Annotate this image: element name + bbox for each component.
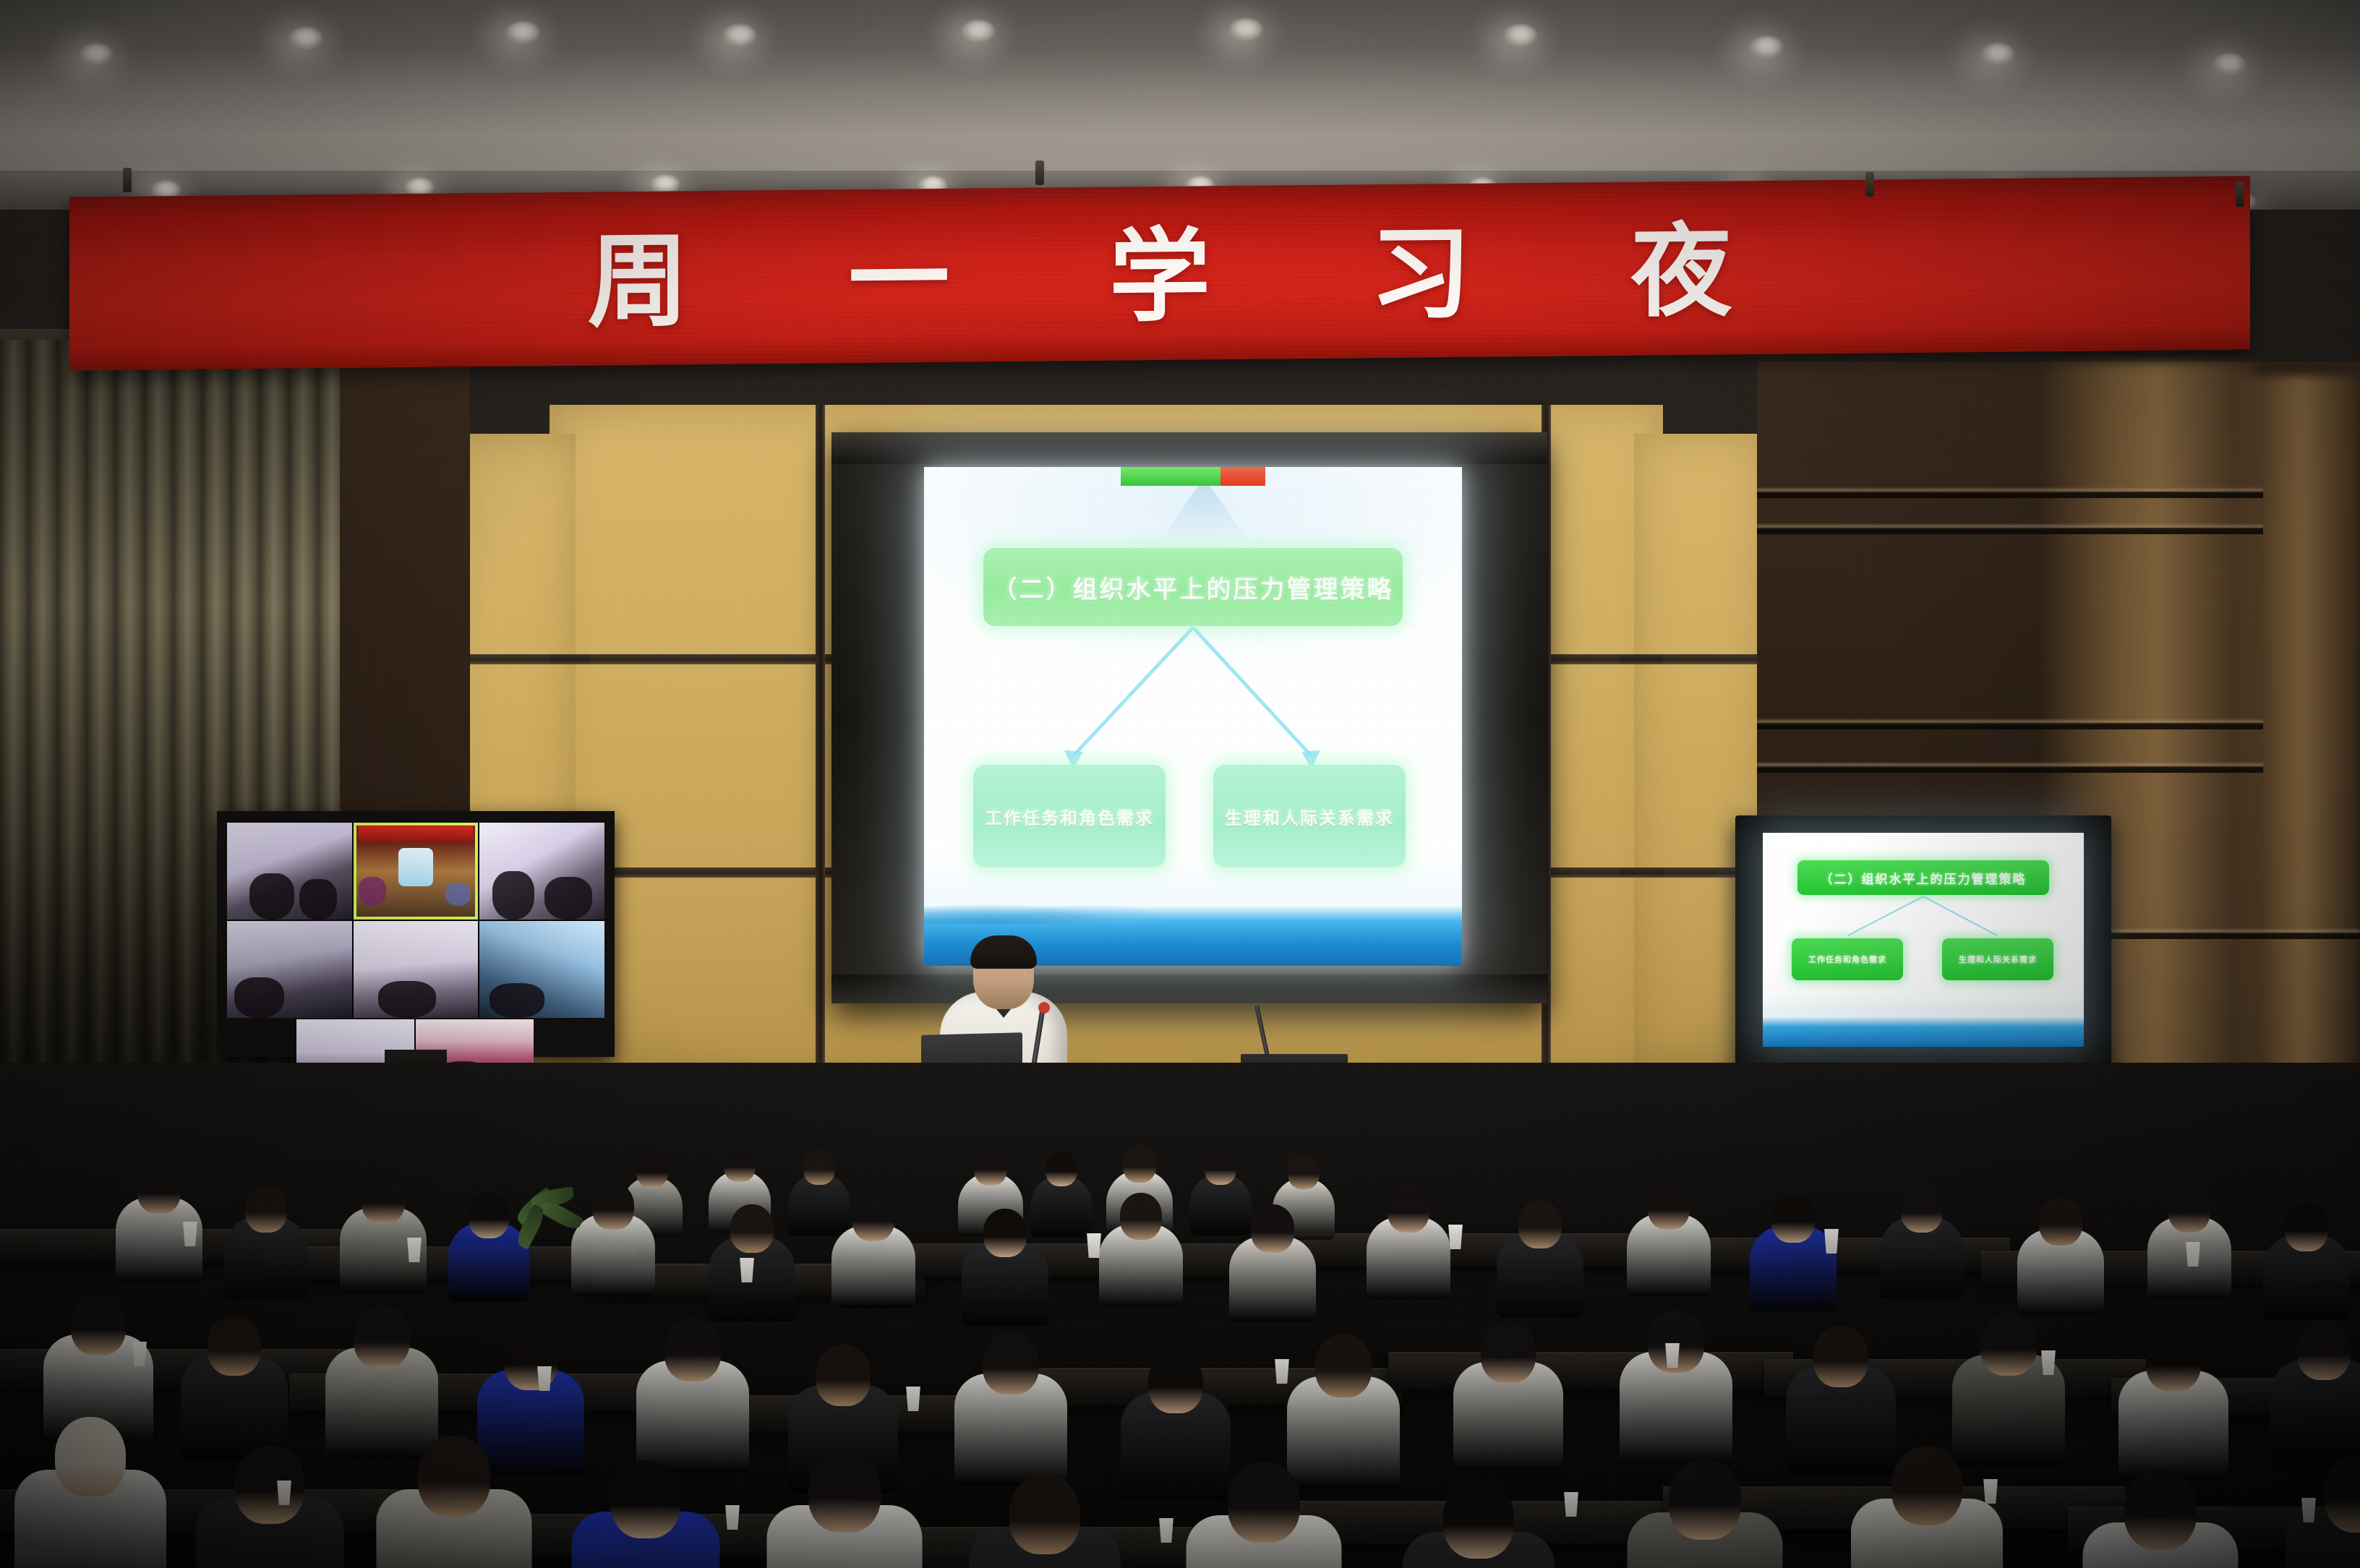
person-head [208, 1316, 261, 1376]
audience-person [14, 1417, 166, 1568]
banner-hook-2 [1035, 160, 1044, 185]
audience-person [2285, 1455, 2360, 1568]
person-head [1148, 1352, 1203, 1413]
person-head [592, 1183, 634, 1230]
person-head [803, 1149, 835, 1185]
audience-person [1099, 1193, 1183, 1317]
event-banner: 周 一 学 习 夜 [69, 176, 2250, 371]
person-head [418, 1436, 490, 1517]
panel-vgroove-left [816, 405, 825, 1077]
person-head [2285, 1203, 2328, 1251]
conference-hall-photo: 周 一 学 习 夜 （二）组织水平上的压力管理 [0, 0, 2360, 1568]
person-head [611, 1460, 680, 1538]
person-head [808, 1452, 881, 1533]
screen-frame-bottom [831, 974, 1547, 1003]
tv-screen: （二）组织水平上的压力管理策略 工作任务和角色需求 生理和人际关系需求 [1763, 833, 2084, 1047]
potted-plant [506, 1186, 593, 1294]
ceiling-light-icon [289, 27, 322, 49]
panel-groove-5 [1620, 654, 1779, 664]
audience-desk [882, 1243, 1258, 1277]
person-head [2168, 1186, 2210, 1233]
banner-hook-1 [123, 168, 132, 192]
secondary-display[interactable]: （二）组织水平上的压力管理策略 工作任务和角色需求 生理和人际关系需求 [1735, 815, 2111, 1076]
person-head [2146, 1330, 2201, 1392]
cctv-grid [227, 823, 604, 1018]
ceiling-light-icon [1504, 25, 1537, 46]
person-head [1288, 1154, 1320, 1189]
audience-person [2017, 1197, 2104, 1326]
cctv-inner-screen [398, 848, 433, 887]
banner-hook-4 [2236, 182, 2244, 207]
cctv-tile-camera-4[interactable] [227, 921, 352, 1018]
person-head [730, 1204, 774, 1253]
person-head [1980, 1313, 2037, 1376]
audience-person [1229, 1204, 1316, 1333]
person-head [1120, 1193, 1162, 1240]
audience-person [1750, 1194, 1837, 1323]
person-head [71, 1294, 126, 1355]
audience-person [831, 1194, 915, 1319]
wood-highlight-2 [1757, 525, 2263, 528]
ceiling-light-icon [80, 43, 113, 65]
audience-person [1620, 1310, 1732, 1478]
person-head [354, 1306, 410, 1368]
cctv-monitor-wall[interactable] [217, 811, 615, 1057]
audience-person [766, 1452, 922, 1568]
person-head [1891, 1446, 1962, 1525]
person-head [1518, 1200, 1562, 1248]
person-head [1205, 1149, 1236, 1185]
slide-title-box: （二）组织水平上的压力管理策略 [983, 548, 1403, 626]
wood-groove-4 [1757, 766, 2263, 773]
person-head [1251, 1204, 1294, 1253]
audience-person [2082, 1469, 2238, 1568]
wood-highlight-4 [1757, 763, 2263, 766]
tv-node-left: 工作任务和角色需求 [1792, 938, 1903, 980]
person-head [1648, 1183, 1690, 1230]
audience-person [1453, 1321, 1563, 1485]
ceiling-light-icon [1750, 36, 1783, 58]
tv-node-right: 生理和人际关系需求 [1942, 938, 2053, 980]
person-head [1046, 1151, 1077, 1186]
slide-node-left: 工作任务和角色需求 [973, 765, 1166, 867]
person-head [983, 1332, 1039, 1395]
audience-person [1851, 1446, 2003, 1568]
ceiling-light-icon [1229, 19, 1262, 40]
audience-person [962, 1209, 1048, 1337]
wood-groove-2 [1757, 528, 2263, 534]
person-head [1388, 1186, 1429, 1233]
person-head [1123, 1145, 1156, 1183]
cctv-tile-camera-6[interactable] [479, 921, 604, 1018]
person-head [2297, 1320, 2351, 1380]
wood-highlight-1 [1757, 489, 2263, 492]
audience-person [1627, 1183, 1711, 1307]
screen-surface: （二）组织水平上的压力管理策略 工作任务和角色需求 生理和人际关系需求 [924, 467, 1462, 966]
person-head [1481, 1321, 1536, 1383]
wood-wall-highlight-edge [2234, 376, 2360, 1106]
cctv-tile-camera-2[interactable] [354, 823, 479, 920]
cctv-inner-banner [359, 826, 474, 841]
cctv-tile-camera-3[interactable] [479, 823, 604, 920]
ceiling-light-icon [723, 25, 756, 46]
audience-person [1186, 1462, 1341, 1568]
audience-person [1627, 1459, 1782, 1568]
audience-desk [1388, 1352, 1793, 1389]
cctv-tile-camera-5[interactable] [354, 921, 479, 1018]
person-head [816, 1345, 871, 1406]
person-head [1813, 1326, 1868, 1387]
audience-person [571, 1460, 719, 1568]
cctv-tile-camera-1[interactable] [227, 823, 352, 920]
person-head [245, 1186, 287, 1233]
audience-person [1880, 1186, 1964, 1310]
audience-person [195, 1446, 343, 1568]
ceiling-light-icon [2212, 53, 2246, 75]
person-head [2124, 1469, 2197, 1550]
audience-person [1497, 1200, 1583, 1329]
slide-connector-lines [924, 467, 1462, 966]
person-head [1315, 1334, 1372, 1397]
screen-frame-top [831, 432, 1547, 464]
slide-node-right: 生理和人际关系需求 [1213, 765, 1406, 867]
person-head [852, 1194, 894, 1241]
person-head [983, 1209, 1027, 1257]
ceiling-light-icon [962, 20, 995, 42]
person-head [1443, 1479, 1514, 1559]
microphone-head-1 [1038, 1002, 1050, 1014]
person-head [55, 1417, 126, 1496]
person-head [1901, 1186, 1943, 1233]
person-head [2039, 1197, 2082, 1246]
person-head [1669, 1459, 1741, 1540]
audience-person [376, 1436, 531, 1568]
ceiling-light-icon [506, 22, 539, 43]
person-head [664, 1319, 721, 1381]
audience-person [1403, 1479, 1555, 1568]
person-head [724, 1147, 756, 1182]
audience-person [1367, 1186, 1450, 1310]
audience-person [224, 1186, 308, 1310]
banner-title: 周 一 学 习 夜 [69, 176, 2250, 371]
person-head [974, 1148, 1007, 1186]
ceiling-light-icon [1981, 43, 2014, 65]
audience-person [2263, 1203, 2350, 1332]
person-head [1228, 1462, 1300, 1543]
wood-groove-3 [1757, 723, 2263, 729]
person-head [137, 1165, 181, 1214]
person-head [1009, 1475, 1080, 1554]
banner-hook-3 [1865, 172, 1874, 197]
wood-highlight-3 [1757, 720, 2263, 723]
tv-title-box: （二）组织水平上的压力管理策略 [1797, 860, 2049, 895]
person-head [235, 1446, 304, 1524]
wood-groove-1 [1757, 492, 2263, 498]
person-head [1771, 1194, 1815, 1243]
audience-person [969, 1475, 1121, 1568]
person-head [469, 1193, 509, 1238]
projector-screen[interactable]: （二）组织水平上的压力管理策略 工作任务和角色需求 生理和人际关系需求 [831, 432, 1547, 1003]
person-head [362, 1175, 405, 1224]
